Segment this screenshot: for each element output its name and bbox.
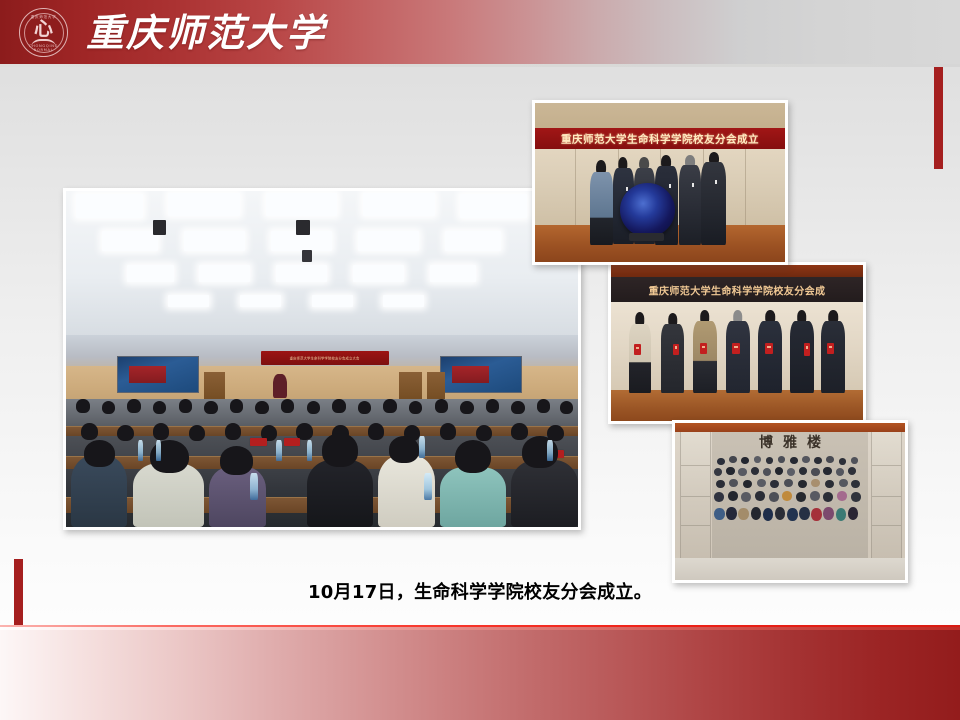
university-name-title: 重庆师范大学 <box>86 7 326 59</box>
hall-speaker-at-podium <box>273 374 286 398</box>
certs-banner: 重庆师范大学生命科学学院校友分会成 <box>611 277 863 302</box>
ceiling-projector <box>153 220 166 235</box>
ceiling-light-panel <box>460 194 527 218</box>
name-badge <box>692 183 694 187</box>
desk-nameplate <box>250 438 266 446</box>
crowd-person <box>823 467 831 475</box>
photo-conference-hall[interactable]: 重庆师范大学生命科学学院校友分会成立大会 <box>63 188 581 530</box>
audience-head <box>383 399 396 412</box>
audience-head <box>255 401 268 414</box>
crowd-person <box>766 457 774 464</box>
crowd-person <box>825 480 834 489</box>
crowd-person-front <box>787 508 798 521</box>
audience-head <box>460 401 473 414</box>
ceiling-light-panel <box>127 265 173 282</box>
person-body <box>701 162 726 244</box>
crowd-person <box>782 491 792 501</box>
crowd-person <box>770 480 779 489</box>
crowd-person <box>851 480 860 489</box>
crowd-person <box>729 479 738 488</box>
audience-desk-row <box>66 426 578 436</box>
audience-head <box>455 440 491 474</box>
audience-head <box>153 401 166 414</box>
crowd-person <box>754 456 762 463</box>
ceiling-light-panel <box>363 193 435 217</box>
audience-person-body <box>71 456 127 527</box>
red-certificate <box>700 343 708 354</box>
ceremony-participant <box>679 155 702 244</box>
crowd-person <box>798 480 807 489</box>
group-crowd <box>714 454 866 551</box>
group-ground-steps <box>675 558 905 580</box>
crowd-person <box>826 456 834 463</box>
hall-stage-banner: 重庆师范大学生命科学学院校友分会成立大会 <box>261 351 389 365</box>
crowd-person <box>837 491 847 501</box>
crowd-person <box>796 492 806 502</box>
wall-seam <box>745 149 746 225</box>
pillar-band <box>681 496 711 497</box>
ceiling-light-panel <box>383 295 424 307</box>
audience-person-body <box>440 467 507 527</box>
pillar-band <box>681 465 711 466</box>
crowd-person <box>775 467 783 475</box>
red-certificate <box>804 343 810 355</box>
audience-head <box>81 423 97 440</box>
pillar-band <box>872 525 902 526</box>
crowd-person-front <box>738 508 749 520</box>
launch-sphere-base <box>629 233 664 241</box>
crowd-person <box>743 480 752 489</box>
certificate-recipient <box>758 310 782 393</box>
ceiling-light-panel <box>445 231 501 251</box>
group-top-strip <box>675 423 905 432</box>
hall-stage-banner-text: 重庆师范大学生命科学学院校友分会成立大会 <box>261 355 389 360</box>
audience-head <box>179 399 192 412</box>
water-bottle <box>138 440 144 462</box>
building-pillar-left <box>680 432 712 564</box>
water-bottle <box>424 473 432 500</box>
name-badge <box>669 184 671 188</box>
audience-head <box>102 401 115 414</box>
wall-seam <box>575 149 576 225</box>
crowd-person <box>836 468 844 476</box>
crowd-person <box>811 468 819 476</box>
hall-projection-screen-right <box>440 356 522 393</box>
crowd-person-front <box>714 508 725 520</box>
crowd-person <box>717 458 725 465</box>
launch-sphere <box>620 183 675 237</box>
ceiling-light-panel <box>76 194 143 218</box>
photo-certificate-presentation-image: 重庆师范大学生命科学学院校友分会成 <box>611 265 863 421</box>
ceiling-light-panel <box>353 265 404 282</box>
audience-head <box>127 399 140 412</box>
ceiling-light-panel <box>184 231 245 251</box>
ceremony-banner: 重庆师范大学生命科学学院校友分会成立 <box>535 128 785 149</box>
crowd-person <box>814 457 822 464</box>
audience-person-body <box>511 460 578 527</box>
crowd-person <box>751 467 759 475</box>
crowd-person-front <box>751 507 762 520</box>
person-body <box>693 321 717 393</box>
crowd-person <box>848 467 856 475</box>
crowd-person <box>839 458 847 465</box>
screen-slide-content <box>129 366 166 383</box>
pillar-band <box>872 496 902 497</box>
footer-banner <box>0 627 960 720</box>
crowd-person <box>823 492 833 502</box>
water-bottle <box>547 440 553 462</box>
audience-head <box>409 401 422 414</box>
crowd-person <box>799 467 807 475</box>
audience-head <box>332 399 345 412</box>
hall-projection-screen-left <box>117 356 199 393</box>
crowd-person <box>811 479 820 488</box>
pillar-band <box>872 465 902 466</box>
audience-head <box>511 401 524 414</box>
person-body <box>758 321 782 393</box>
audience-head <box>358 401 371 414</box>
photo-certificate-presentation[interactable]: 重庆师范大学生命科学学院校友分会成 <box>608 262 866 424</box>
photo-conference-hall-image: 重庆师范大学生命科学学院校友分会成立大会 <box>66 191 578 527</box>
crowd-person <box>729 456 737 463</box>
crowd-person <box>741 492 751 502</box>
ceiling-light-panel <box>358 231 419 251</box>
audience-head <box>389 436 420 463</box>
water-bottle <box>276 440 282 462</box>
ceiling-light-panel <box>199 265 250 282</box>
audience-person-body <box>307 460 374 527</box>
person-body <box>790 321 814 393</box>
certs-banner-text: 重庆师范大学生命科学学院校友分会成 <box>611 282 863 297</box>
crowd-person <box>714 468 722 476</box>
audience-head <box>153 423 169 440</box>
seal-center-glyph: 心 <box>20 20 67 39</box>
certificate-recipient <box>821 310 845 393</box>
red-certificate <box>634 344 641 355</box>
audience-head <box>220 446 253 475</box>
header-underline <box>0 64 960 67</box>
certs-floor <box>611 390 863 421</box>
water-bottle <box>307 440 313 462</box>
crowd-person <box>763 468 771 476</box>
audience-head <box>486 399 499 412</box>
crowd-person <box>714 492 724 502</box>
ceiling-light-panel <box>312 295 353 307</box>
audience-head <box>281 399 294 412</box>
audience-head <box>537 399 550 412</box>
red-certificate <box>732 343 740 354</box>
ceiling-light-panel <box>102 231 158 251</box>
crowd-person-front <box>775 507 786 520</box>
photo-group-on-steps[interactable]: 博雅楼 <box>672 420 908 583</box>
ceremony-participant <box>701 152 726 244</box>
ceremony-banner-text: 重庆师范大学生命科学学院校友分会成立 <box>535 131 785 146</box>
audience-head <box>204 401 217 414</box>
slide-canvas: 重庆师范大学 心 CHONGQING NORMAL 重庆师范大学 <box>0 0 960 720</box>
audience-head <box>435 399 448 412</box>
crowd-person <box>728 491 738 501</box>
crowd-person <box>741 457 749 464</box>
crowd-person <box>716 480 725 489</box>
person-body <box>629 324 652 393</box>
water-bottle <box>250 473 258 500</box>
pillar-band <box>681 525 711 526</box>
water-bottle <box>156 440 162 462</box>
ceiling-light-panel <box>168 193 240 217</box>
desk-nameplate <box>284 438 300 446</box>
certificate-recipient <box>661 313 684 393</box>
audience-head <box>511 423 527 440</box>
certificate-recipient <box>790 310 814 393</box>
ceiling-light-panel <box>240 295 281 307</box>
crowd-person-front <box>763 508 774 521</box>
certificate-recipient <box>726 310 750 393</box>
audience-head <box>322 433 358 467</box>
crowd-person <box>851 492 861 502</box>
photo-launch-ceremony[interactable]: 重庆师范大学生命科学学院校友分会成立 <box>532 100 788 265</box>
crowd-person <box>810 491 820 501</box>
photo-group-on-steps-image: 博雅楼 <box>675 423 905 580</box>
person-body <box>679 165 702 244</box>
name-badge <box>715 180 717 184</box>
crowd-person <box>802 456 810 463</box>
person-body <box>821 321 845 393</box>
ceiling-projector <box>296 220 309 235</box>
crowd-person <box>769 492 779 502</box>
crowd-person-front <box>823 507 834 520</box>
audience-head <box>476 425 492 442</box>
crowd-person <box>778 456 786 463</box>
certificate-recipient <box>693 310 717 393</box>
ceiling-light-panel <box>276 265 327 282</box>
crowd-person-front <box>836 508 847 521</box>
water-bottle <box>419 436 425 458</box>
ceremony-participant <box>590 160 613 244</box>
audience-head <box>307 401 320 414</box>
crowd-person <box>851 457 859 464</box>
crowd-person-front <box>848 507 859 520</box>
audience-head <box>368 423 384 440</box>
ceiling-light-panel <box>266 193 338 217</box>
crowd-person <box>738 468 746 476</box>
crowd-person <box>839 479 848 488</box>
seal-arc-bottom-text: CHONGQING NORMAL <box>20 44 67 52</box>
crowd-person-front <box>799 507 810 520</box>
person-body <box>726 321 750 393</box>
ceiling-light-panel <box>168 295 209 307</box>
person-body <box>590 172 613 244</box>
crowd-person <box>755 491 765 501</box>
audience-head <box>189 425 205 442</box>
certs-top-strip <box>611 265 863 277</box>
audience-head <box>76 399 89 412</box>
ceiling-light-panel <box>430 265 476 282</box>
audience-head <box>84 440 115 467</box>
crowd-person <box>790 457 798 464</box>
screen-slide-content <box>452 366 489 383</box>
university-seal-icon: 重庆师范大学 心 CHONGQING NORMAL <box>19 8 68 57</box>
audience-head <box>230 399 243 412</box>
building-pillar-right <box>871 432 903 564</box>
crowd-person-front <box>726 507 737 520</box>
audience-head <box>440 423 456 440</box>
crowd-person-front <box>811 508 822 521</box>
crowd-person <box>757 479 766 488</box>
red-certificate <box>765 343 773 354</box>
red-certificate <box>827 343 834 354</box>
person-body <box>661 324 684 392</box>
photo-launch-ceremony-image: 重庆师范大学生命科学学院校友分会成立 <box>535 103 785 262</box>
crowd-person <box>784 479 793 488</box>
crowd-person <box>787 468 795 476</box>
red-certificate <box>673 344 679 355</box>
audience-head <box>225 423 241 440</box>
certificate-recipient <box>629 312 652 393</box>
ceiling-projector <box>302 250 312 262</box>
crowd-person <box>726 467 734 475</box>
audience-head <box>117 425 133 442</box>
